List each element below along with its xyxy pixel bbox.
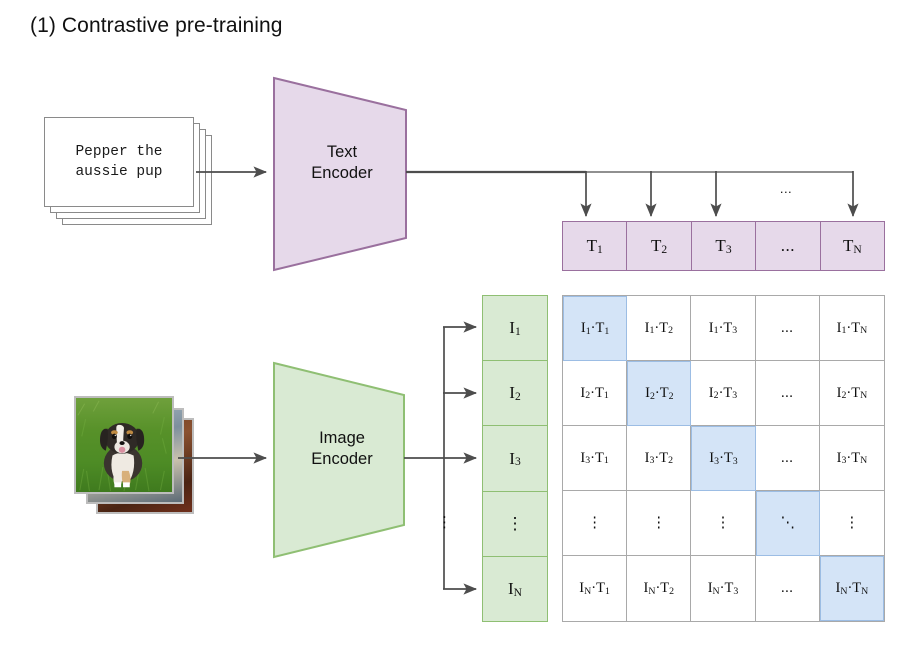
text-embedding-cell-3: T3 xyxy=(692,222,756,270)
image-encoder-label-line1: Image xyxy=(272,428,412,449)
matrix-cell-r1-c3: I1·T3 xyxy=(691,296,755,361)
matrix-cell-r2-c3: I2·T3 xyxy=(691,361,755,426)
image-encoder-block[interactable]: Image Encoder xyxy=(272,361,412,559)
text-encoder-label: Text Encoder xyxy=(272,142,412,184)
text-card-front: Pepper the aussie pup xyxy=(44,117,194,207)
matrix-cell-r1-c1: I1·T1 xyxy=(563,296,627,361)
image-embedding-cell-3: I3 xyxy=(483,426,547,491)
matrix-cell-r2-c4: ... xyxy=(756,361,820,426)
text-encoder-label-line1: Text xyxy=(272,142,412,163)
text-embedding-top-ellipsis: ... xyxy=(774,181,798,196)
matrix-cell-r2-c5: I2·TN xyxy=(820,361,884,426)
text-embeddings-row: T1T2T3...TN xyxy=(562,221,885,271)
image-encoder-label: Image Encoder xyxy=(272,428,412,470)
page-title: (1) Contrastive pre-training xyxy=(30,14,283,38)
text-embedding-cell-4: ... xyxy=(756,222,820,270)
text-embedding-cell-2: T2 xyxy=(627,222,691,270)
image-embedding-cell-4: ⋮ xyxy=(483,492,547,557)
matrix-cell-r4-c2: ⋮ xyxy=(627,491,691,556)
text-caption-line2: aussie pup xyxy=(75,164,162,180)
image-encoder-label-line2: Encoder xyxy=(272,449,412,470)
matrix-cell-r5-c4: ... xyxy=(756,556,820,621)
text-caption: Pepper the aussie pup xyxy=(75,142,162,182)
image-embeddings-column: I1I2I3⋮IN xyxy=(482,295,548,622)
matrix-cell-r2-c2: I2·T2 xyxy=(627,361,691,426)
text-embedding-cell-1: T1 xyxy=(563,222,627,270)
image-thumb-front xyxy=(74,396,174,494)
matrix-cell-r5-c3: IN·T3 xyxy=(691,556,755,621)
matrix-cell-r3-c1: I3·T1 xyxy=(563,426,627,491)
image-embedding-cell-1: I1 xyxy=(483,296,547,361)
matrix-cell-r5-c2: IN·T2 xyxy=(627,556,691,621)
matrix-cell-r4-c3: ⋮ xyxy=(691,491,755,556)
text-embedding-cell-5: TN xyxy=(821,222,884,270)
text-caption-line1: Pepper the xyxy=(75,144,162,160)
image-embedding-cell-5: IN xyxy=(483,557,547,621)
matrix-cell-r4-c1: ⋮ xyxy=(563,491,627,556)
matrix-cell-r1-c2: I1·T2 xyxy=(627,296,691,361)
image-embedding-cell-2: I2 xyxy=(483,361,547,426)
matrix-cell-r5-c1: IN·T1 xyxy=(563,556,627,621)
image-branch-ellipsis: ⋮ xyxy=(437,513,451,531)
matrix-cell-r3-c4: ... xyxy=(756,426,820,491)
matrix-cell-r1-c4: ... xyxy=(756,296,820,361)
matrix-cell-r2-c1: I2·T1 xyxy=(563,361,627,426)
similarity-matrix: I1·T1I1·T2I1·T3...I1·TNI2·T1I2·T2I2·T3..… xyxy=(562,295,885,622)
matrix-cell-r1-c5: I1·TN xyxy=(820,296,884,361)
matrix-cell-r4-c5: ⋮ xyxy=(820,491,884,556)
matrix-cell-r3-c2: I3·T2 xyxy=(627,426,691,491)
matrix-cell-r3-c5: I3·TN xyxy=(820,426,884,491)
text-encoder-label-line2: Encoder xyxy=(272,163,412,184)
matrix-cell-r5-c5: IN·TN xyxy=(820,556,884,621)
matrix-cell-r3-c3: I3·T3 xyxy=(691,426,755,491)
text-encoder-block[interactable]: Text Encoder xyxy=(272,76,412,272)
matrix-cell-r4-c4: ⋱ xyxy=(756,491,820,556)
wire-image-encoder-to-embeddings xyxy=(404,327,476,589)
